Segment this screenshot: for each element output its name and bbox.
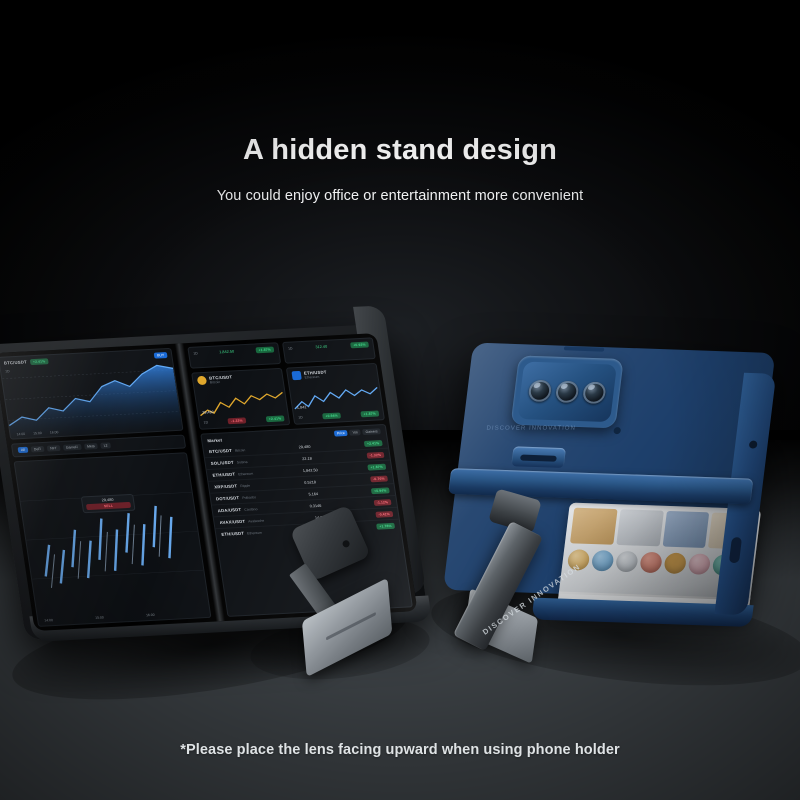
ticker2-price: 312.40 <box>315 345 327 350</box>
tab-nft[interactable]: NFT <box>47 445 61 452</box>
ticker1-change: +1.87% <box>255 346 274 353</box>
card2-change: +1.87% <box>360 410 379 417</box>
row6-symbol: AVAX/USDT <box>219 519 245 525</box>
card2-name: Ethereum <box>304 374 327 379</box>
row4-symbol: DOT/USDT <box>216 495 240 501</box>
row7-name: Ethereum <box>247 531 262 536</box>
hero-area-chart <box>0 349 182 439</box>
row2-change: +1.87% <box>367 463 386 470</box>
product-marketing-banner: A hidden stand design You could enjoy of… <box>0 0 800 800</box>
row5-price: 0.3146 <box>309 503 321 508</box>
right-phone-kickstand: DISCOVER INNOVATION <box>476 500 646 660</box>
hero-axis-1: 15:00 <box>33 431 42 435</box>
row2-price: 1,842.50 <box>303 468 318 473</box>
candle-axis-0: 14:00 <box>44 618 53 622</box>
order-action[interactable]: SELL <box>86 502 131 510</box>
row4-change: +0.94% <box>371 487 390 494</box>
row0-change: +2.41% <box>363 440 382 447</box>
market-header-label: Market <box>207 437 223 443</box>
row3-name: Ripple <box>240 484 250 488</box>
card2-timeframe: 1D <box>298 415 303 419</box>
candle-axis-2: 16:00 <box>146 613 155 617</box>
row5-name: Cardano <box>244 507 258 512</box>
row2-name: Ethereum <box>238 472 253 477</box>
row3-change: -0.76% <box>370 475 388 482</box>
candle-axis-1: 15:00 <box>95 615 104 619</box>
candlestick-chart <box>15 453 211 626</box>
hero-axis-0: 14:00 <box>16 432 25 436</box>
row1-change: -1.32% <box>366 451 384 458</box>
row1-name: Solana <box>237 460 248 464</box>
row4-price: 5.164 <box>308 492 318 496</box>
candlestick-chart-panel: 29,480 SELL 14:00 15:00 16:00 <box>14 452 212 627</box>
hero-axis-2: 16:00 <box>50 430 59 434</box>
btc-coin-icon <box>197 376 207 385</box>
ticker2-change: +0.92% <box>350 342 369 349</box>
page-subheadline: You could enjoy office or entertainment … <box>0 188 800 204</box>
coin-card-btc[interactable]: BTC/USDT Bitcoin 29,480 1D -1.32% +2.41% <box>191 368 290 430</box>
row5-symbol: ADA/USDT <box>217 507 241 513</box>
eth-coin-icon <box>291 371 301 380</box>
row1-price: 22.18 <box>302 456 312 460</box>
camera-lens-1-icon <box>527 380 552 403</box>
row6-name: Avalanche <box>248 519 264 524</box>
card1-change-alt: -1.32% <box>228 417 246 424</box>
card1-timeframe: 1D <box>203 420 208 424</box>
card1-change: +2.41% <box>265 415 284 422</box>
tab-meta[interactable]: Meta <box>84 443 99 450</box>
right-phone-brand-logo: DISCOVER INNOVATION <box>486 426 576 432</box>
row0-symbol: BTC/USDT <box>209 448 233 454</box>
row0-price: 29,480 <box>298 444 310 449</box>
row1-symbol: SOL/USDT <box>210 460 234 466</box>
page-footnote: *Please place the lens facing upward whe… <box>0 742 800 758</box>
filter-price[interactable]: Price <box>333 430 348 437</box>
coin-card-eth[interactable]: ETH/USDT Ethereum 1,842 1D +0.94% +1.87% <box>286 363 385 425</box>
tab-l2[interactable]: L2 <box>100 442 111 448</box>
camera-lens-3-icon <box>582 382 607 405</box>
card2-price: 1,842 <box>297 405 307 409</box>
ticker1-price: 1,842.50 <box>219 350 234 355</box>
left-phone-kickstand <box>286 500 440 670</box>
ticker-strip-2: 1D 312.40 +0.92% <box>282 337 376 363</box>
row3-price: 0.5218 <box>304 480 316 485</box>
row3-symbol: XRP/USDT <box>214 483 238 489</box>
card2-change-alt: +0.94% <box>322 412 341 419</box>
row7-symbol: ETH/USDT <box>221 531 244 537</box>
tab-defi[interactable]: DeFi <box>30 446 44 453</box>
row2-symbol: ETH/USDT <box>212 472 235 478</box>
hero-chart-panel: BTC/USDT +2.41% BUY 1D <box>0 348 184 440</box>
camera-lens-group <box>517 362 617 423</box>
filter-gainers[interactable]: Gainers <box>362 428 381 435</box>
ticker-strip-1: 1D 1,842.50 +1.87% <box>187 342 281 368</box>
tab-all[interactable]: All <box>18 447 29 453</box>
page-headline: A hidden stand design <box>0 134 800 167</box>
ticker2-timeframe: 1D <box>288 346 293 350</box>
tab-gamefi[interactable]: GameFi <box>62 444 81 451</box>
filter-vol[interactable]: Vol <box>349 429 361 435</box>
card1-price: 29,480 <box>202 410 214 415</box>
camera-lens-2-icon <box>555 381 580 404</box>
card1-name: Bitcoin <box>210 379 234 384</box>
row4-name: Polkadot <box>242 495 256 500</box>
ticker1-timeframe: 1D <box>193 351 198 355</box>
right-kickstand-bracket-slot <box>520 455 557 462</box>
row0-name: Bitcoin <box>235 448 246 452</box>
order-price-tag: 29,480 SELL <box>81 494 136 513</box>
